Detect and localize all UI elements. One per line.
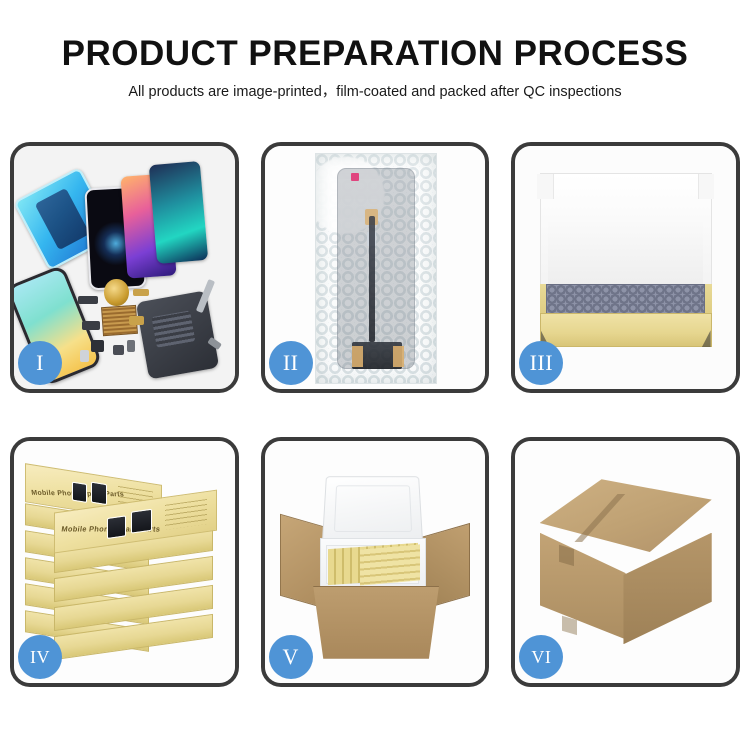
wrapped-screen-image (337, 168, 416, 369)
box-front-panel-image (540, 313, 712, 347)
spare-part-icon (80, 350, 89, 362)
spare-part-icon (133, 289, 148, 296)
coil-part-icon (104, 279, 128, 306)
grey-foam-padding-image (546, 284, 705, 316)
page-header: PRODUCT PREPARATION PROCESS All products… (0, 32, 750, 102)
page-title: PRODUCT PREPARATION PROCESS (0, 32, 750, 76)
process-step-panel-6[interactable]: VI (511, 437, 740, 688)
step-badge-1: I (18, 341, 62, 385)
spare-part-icon (127, 340, 136, 352)
box-inner-wall-image (548, 219, 702, 292)
spare-part-icon (129, 316, 144, 326)
process-steps-grid: I II (10, 142, 740, 687)
phone-back-housing-image (136, 291, 219, 380)
step-badge-2: II (269, 341, 313, 385)
box-artwork-screen-icon (91, 482, 107, 505)
box-artwork-screen-icon (131, 509, 152, 534)
spare-part-icon (78, 296, 98, 303)
spare-part-icon (91, 340, 104, 352)
gold-contact-pad-icon (393, 346, 404, 367)
page-subtitle: All products are image-printed，film-coat… (0, 82, 750, 102)
box-artwork-screen-icon (72, 482, 87, 503)
phone-teal-display-image (149, 161, 208, 264)
process-step-panel-4[interactable]: Mobile Phone Spare Parts Mobile Phone Sp… (10, 437, 239, 688)
box-spec-lines (164, 499, 206, 530)
carton-body-image (313, 586, 439, 659)
step-badge-4: IV (18, 635, 62, 679)
process-step-panel-2[interactable]: II (261, 142, 490, 393)
bubble-wrap-bag-image (315, 153, 436, 383)
box-artwork-screen-icon (106, 515, 125, 539)
carton-left-face (540, 533, 626, 640)
pink-qc-label-icon (351, 173, 359, 181)
product-preparation-page: PRODUCT PREPARATION PROCESS All products… (0, 0, 750, 750)
packed-kraft-boxes-image (360, 545, 420, 587)
step-badge-6: VI (519, 635, 563, 679)
step-badge-5: V (269, 635, 313, 679)
carton-top-face (540, 479, 712, 552)
process-step-panel-3[interactable]: III (511, 142, 740, 393)
foam-lid-image (322, 477, 423, 543)
step-badge-3: III (519, 341, 563, 385)
gold-contact-pad-icon (352, 346, 363, 367)
flex-cable-icon (369, 216, 375, 342)
spare-part-icon (82, 321, 100, 331)
process-step-panel-5[interactable]: V (261, 437, 490, 688)
process-step-panel-1[interactable]: I (10, 142, 239, 393)
carton-right-face (623, 533, 711, 645)
spare-part-icon (113, 345, 124, 355)
